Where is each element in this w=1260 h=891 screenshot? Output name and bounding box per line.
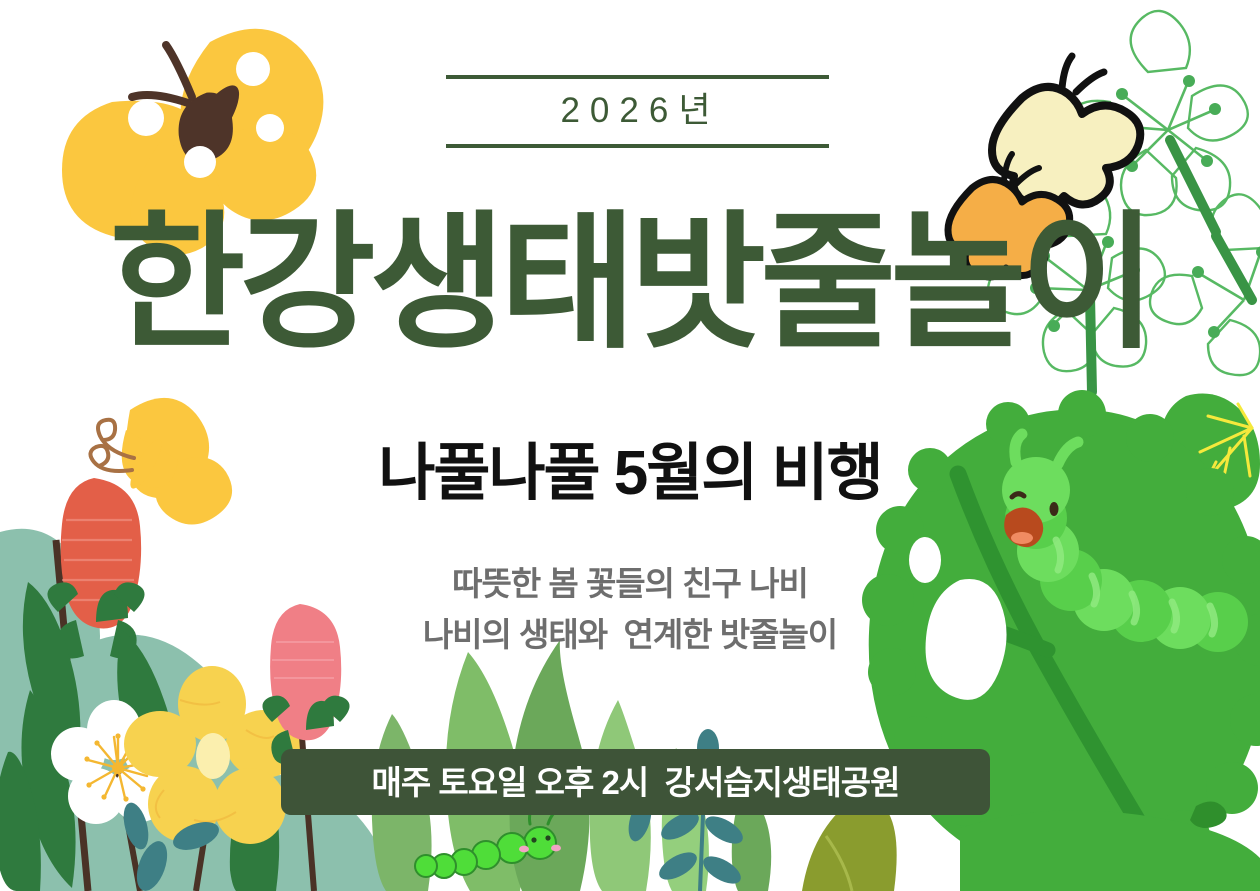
year-block: 2026년 bbox=[446, 75, 829, 148]
page-title: 한강생태밧줄놀이 bbox=[0, 210, 1260, 358]
schedule-banner: 매주 토요일 오후 2시 강서습지생태공원 bbox=[281, 749, 990, 815]
page-subtitle: 나풀나풀 5월의 비행 bbox=[0, 440, 1260, 508]
schedule-banner-label: 매주 토요일 오후 2시 강서습지생태공원 bbox=[372, 766, 900, 799]
description-line-1: 따뜻한 봄 꽃들의 친구 나비 bbox=[0, 558, 1260, 609]
description-block: 따뜻한 봄 꽃들의 친구 나비 나비의 생태와 연계한 밧줄놀이 bbox=[0, 558, 1260, 660]
poster-canvas: 2026년 한강생태밧줄놀이 나풀나풀 5월의 비행 따뜻한 봄 꽃들의 친구 … bbox=[0, 0, 1260, 891]
year-label: 2026년 bbox=[446, 79, 829, 144]
year-rule-bottom bbox=[446, 144, 829, 148]
description-line-2: 나비의 생태와 연계한 밧줄놀이 bbox=[0, 609, 1260, 660]
